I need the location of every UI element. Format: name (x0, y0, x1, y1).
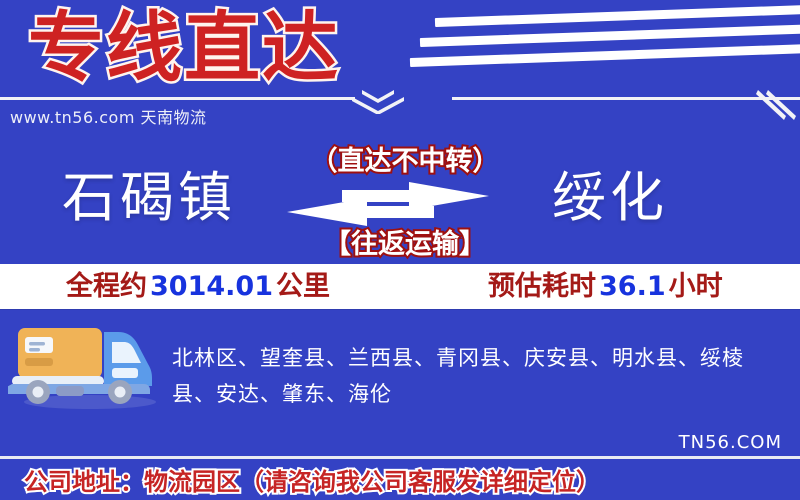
distance-unit-label: 公里 (276, 271, 330, 302)
company-address-note: 公司地址：物流园区（请咨询我公司客服发详细定位） (24, 462, 600, 497)
footer-divider (0, 456, 800, 459)
site-watermark: TN56.COM (679, 432, 782, 453)
delivery-truck-icon (8, 318, 168, 410)
headline-title: 专线直达 (28, 2, 340, 94)
distance-prefix-label: 全程约 (66, 271, 147, 302)
decor-stripe-2 (420, 23, 800, 47)
site-domain-label: www.tn56.com 天南物流 (10, 104, 207, 128)
header-rule-right (452, 97, 800, 100)
direct-shipping-badge: （直达不中转） (300, 139, 510, 178)
destination-city: 绥化 (552, 166, 668, 230)
coverage-area-list: 北林区、望奎县、兰西县、青冈县、庆安县、明水县、绥棱县、安达、肇东、海伦 (172, 340, 782, 412)
duration-prefix-label: 预估耗时 (488, 271, 596, 302)
estimated-duration-stat: 预估耗时36.1小时 (488, 270, 723, 304)
decor-stripe-1 (435, 4, 800, 27)
total-distance-stat: 全程约3014.01公里 (66, 270, 330, 304)
decor-stripe-3 (410, 43, 800, 67)
bidirectional-arrow-icon (284, 182, 492, 226)
duration-unit-label: 小时 (669, 271, 723, 302)
header-rule-left (0, 97, 355, 100)
logistics-route-banner: 专线直达 www.tn56.com 天南物流 石碣镇 绥化 （直达不中转） 【往… (0, 0, 800, 500)
chevron-down-icon (352, 90, 404, 114)
duration-value: 36.1 (596, 271, 669, 302)
distance-value: 3014.01 (147, 271, 276, 302)
origin-city: 石碣镇 (62, 166, 236, 230)
corner-chevron-icon (756, 88, 800, 128)
round-trip-badge: 【往返运输】 (300, 222, 510, 261)
